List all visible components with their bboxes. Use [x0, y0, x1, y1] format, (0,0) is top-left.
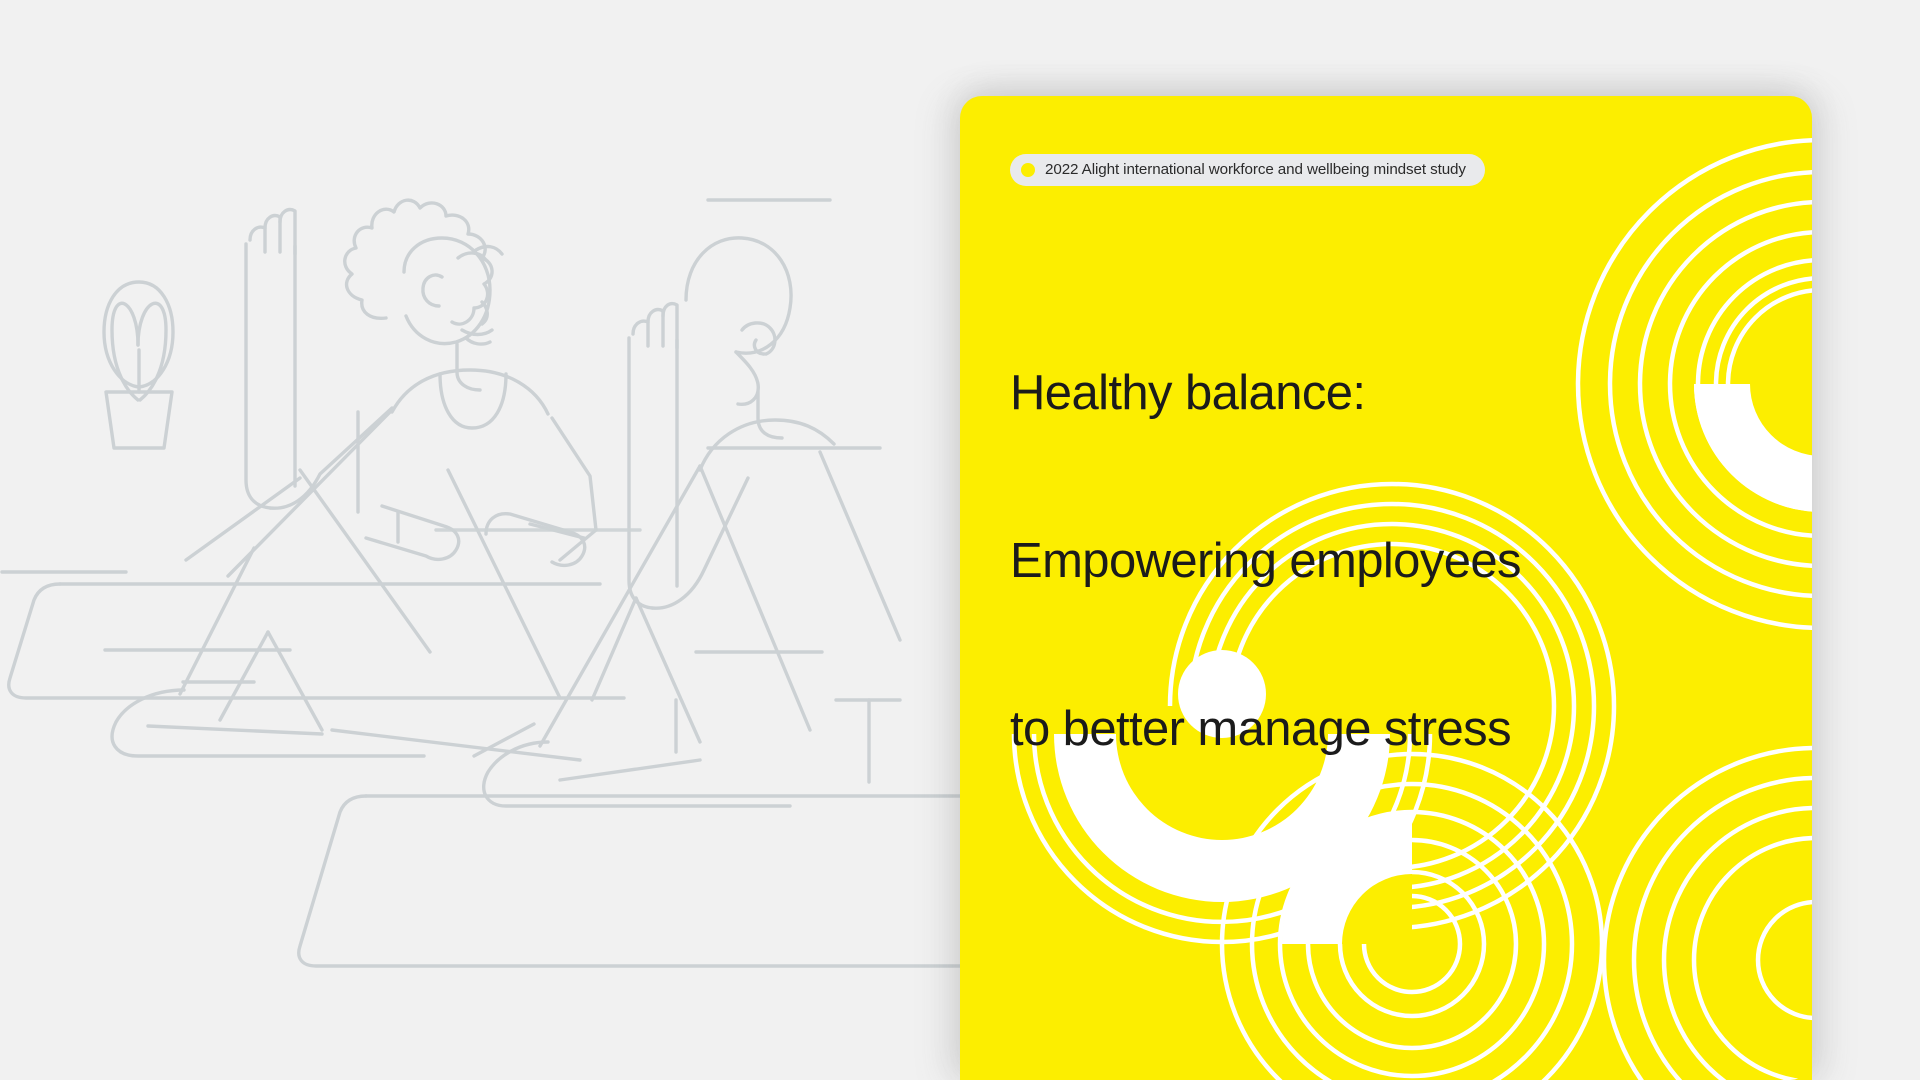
page-title: Healthy balance: Empowering employees to… [1010, 253, 1521, 869]
badge-dot-icon [1021, 163, 1035, 177]
top-right-ring-cluster [1578, 140, 1812, 628]
yoga-mat-back [299, 796, 1000, 966]
study-badge[interactable]: 2022 Alight international workforce and … [1010, 154, 1485, 186]
title-line-3: to better manage stress [1010, 701, 1521, 757]
screenshot-root: 2022 Alight international workforce and … [0, 0, 1920, 1080]
yoga-line-art-illustration [0, 0, 1000, 1080]
title-line-1: Healthy balance: [1010, 365, 1521, 421]
title-line-2: Empowering employees [1010, 533, 1521, 589]
far-right-ring-cluster [1604, 748, 1812, 1080]
yoga-person-front [110, 200, 596, 760]
report-cover-card: 2022 Alight international workforce and … [960, 96, 1812, 1080]
potted-cactus-icon [104, 282, 173, 448]
badge-label: 2022 Alight international workforce and … [1045, 162, 1466, 177]
